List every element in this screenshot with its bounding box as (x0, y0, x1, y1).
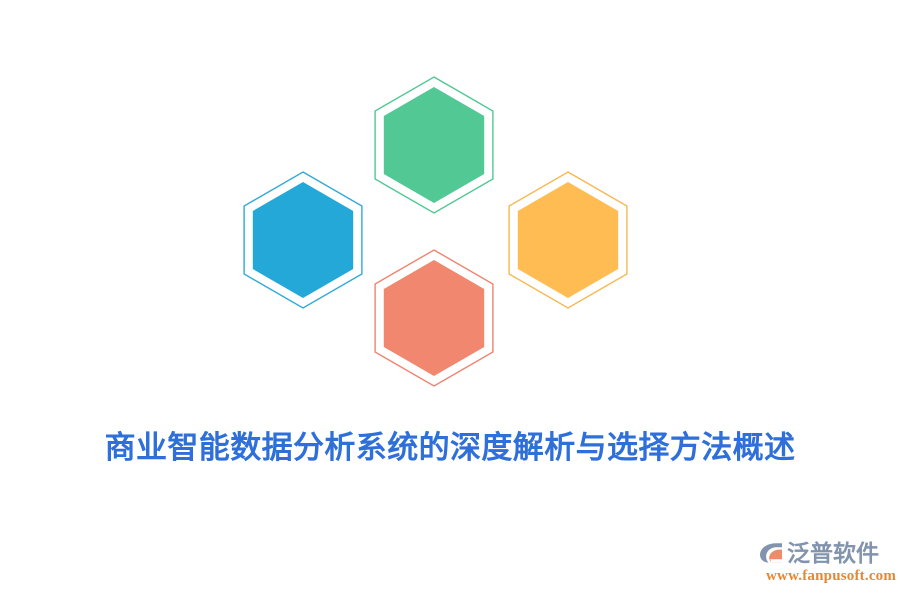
screenshot-canvas: 商业智能数据分析系统的深度解析与选择方法概述 泛普软件 www.fanpusof… (0, 0, 900, 600)
salmon-hexagon (354, 238, 514, 398)
page-title: 商业智能数据分析系统的深度解析与选择方法概述 (105, 432, 796, 465)
hexagon-cluster-graphic (0, 0, 900, 420)
green-hexagon-fill (384, 87, 484, 203)
brand-row: 泛普软件 (758, 538, 879, 568)
fanpu-logo-icon (758, 540, 784, 566)
brand-url: www.fanpusoft.com (766, 568, 896, 585)
title-band: 商业智能数据分析系统的深度解析与选择方法概述 (0, 424, 900, 472)
salmon-hexagon-shape (354, 238, 514, 398)
salmon-hexagon-fill (384, 260, 484, 376)
brand-name: 泛普软件 (787, 540, 879, 566)
orange-hexagon-fill (518, 182, 618, 298)
blue-hexagon-fill (253, 182, 353, 298)
brand-watermark: 泛普软件 www.fanpusoft.com (758, 530, 888, 592)
